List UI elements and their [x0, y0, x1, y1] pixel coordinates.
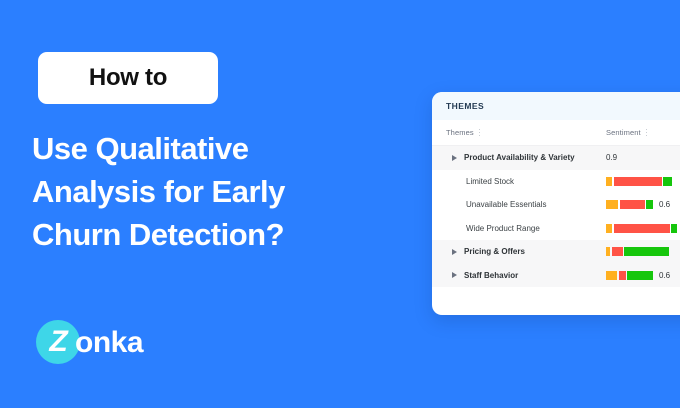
table-row-value-cell	[606, 224, 680, 233]
sentiment-segment-negative	[612, 247, 623, 256]
table-row[interactable]: Unavailable Essentials 0.6	[432, 193, 680, 217]
how-to-badge-label: How to	[89, 66, 167, 90]
caret-right-icon[interactable]	[452, 155, 460, 161]
table-row-label: Wide Product Range	[466, 224, 540, 233]
table-row-value-cell: 0.6	[606, 200, 680, 209]
logo-letter: Z	[36, 320, 80, 364]
kebab-icon[interactable]	[479, 129, 481, 137]
table-row-label: Unavailable Essentials	[466, 200, 547, 209]
logo-wordmark: onka	[75, 328, 143, 358]
table-row-label-cell: Wide Product Range	[446, 224, 606, 233]
zonka-logo: Z onka	[36, 320, 143, 364]
caret-right-icon[interactable]	[452, 272, 460, 278]
themes-card-header: THEMES	[432, 92, 680, 120]
sentiment-segment-positive	[646, 200, 653, 209]
column-header-sentiment-label: Sentiment	[606, 128, 641, 137]
headline-line-1: Use Qualitative	[32, 128, 412, 171]
table-row-label: Pricing & Offers	[464, 247, 525, 256]
sentiment-segment-neutral	[606, 177, 612, 186]
table-row-value-cell	[606, 177, 680, 186]
table-row-label-cell: Unavailable Essentials	[446, 200, 606, 209]
sentiment-bar	[606, 177, 672, 186]
sentiment-score: 0.6	[659, 200, 670, 209]
sentiment-segment-negative	[614, 224, 670, 233]
table-row-label: Limited Stock	[466, 177, 514, 186]
zonka-logo-mark: Z	[36, 320, 80, 364]
table-row-value-cell: 0.9	[606, 153, 680, 162]
sentiment-segment-negative	[619, 271, 626, 280]
table-row-label-cell: Pricing & Offers	[446, 247, 606, 256]
sentiment-bar	[606, 224, 677, 233]
headline-line-2: Analysis for Early	[32, 171, 412, 214]
themes-table-body: Product Availability & Variety 0.9 Limit…	[432, 146, 680, 287]
table-row-label: Staff Behavior	[464, 271, 518, 280]
table-row-value-cell	[606, 247, 680, 256]
themes-card: THEMES Themes Sentiment Product Availabi…	[432, 92, 680, 315]
column-header-sentiment[interactable]: Sentiment	[606, 128, 680, 137]
table-row-label: Product Availability & Variety	[464, 153, 575, 162]
caret-right-icon[interactable]	[452, 249, 460, 255]
table-row[interactable]: Pricing & Offers	[432, 240, 680, 264]
table-row-label-cell: Staff Behavior	[446, 271, 606, 280]
themes-card-title: THEMES	[446, 101, 484, 111]
table-row-label-cell: Product Availability & Variety	[446, 153, 606, 162]
sentiment-segment-neutral	[606, 271, 617, 280]
kebab-icon[interactable]	[646, 129, 648, 137]
sentiment-score: 0.9	[606, 153, 617, 162]
sentiment-score: 0.6	[659, 271, 670, 280]
table-row[interactable]: Product Availability & Variety 0.9	[432, 146, 680, 170]
sentiment-bar	[606, 271, 653, 280]
table-row[interactable]: Limited Stock	[432, 170, 680, 194]
sentiment-bar	[606, 247, 669, 256]
sentiment-segment-positive	[624, 247, 669, 256]
headline-line-3: Churn Detection?	[32, 214, 412, 257]
sentiment-segment-negative	[614, 177, 662, 186]
sentiment-segment-neutral	[606, 200, 618, 209]
poster-canvas: How to Use Qualitative Analysis for Earl…	[0, 0, 680, 408]
sentiment-segment-negative	[620, 200, 645, 209]
sentiment-segment-positive	[671, 224, 677, 233]
how-to-badge: How to	[38, 52, 218, 104]
sentiment-segment-neutral	[606, 224, 612, 233]
table-row[interactable]: Wide Product Range	[432, 217, 680, 241]
column-header-themes-label: Themes	[446, 128, 474, 137]
table-column-header: Themes Sentiment	[432, 120, 680, 146]
table-row[interactable]: Staff Behavior 0.6	[432, 264, 680, 288]
table-row-label-cell: Limited Stock	[446, 177, 606, 186]
sentiment-segment-positive	[627, 271, 653, 280]
column-header-themes[interactable]: Themes	[446, 128, 606, 137]
page-title: Use Qualitative Analysis for Early Churn…	[32, 128, 412, 256]
sentiment-bar	[606, 200, 653, 209]
sentiment-segment-positive	[663, 177, 672, 186]
sentiment-segment-neutral	[606, 247, 610, 256]
table-row-value-cell: 0.6	[606, 271, 680, 280]
